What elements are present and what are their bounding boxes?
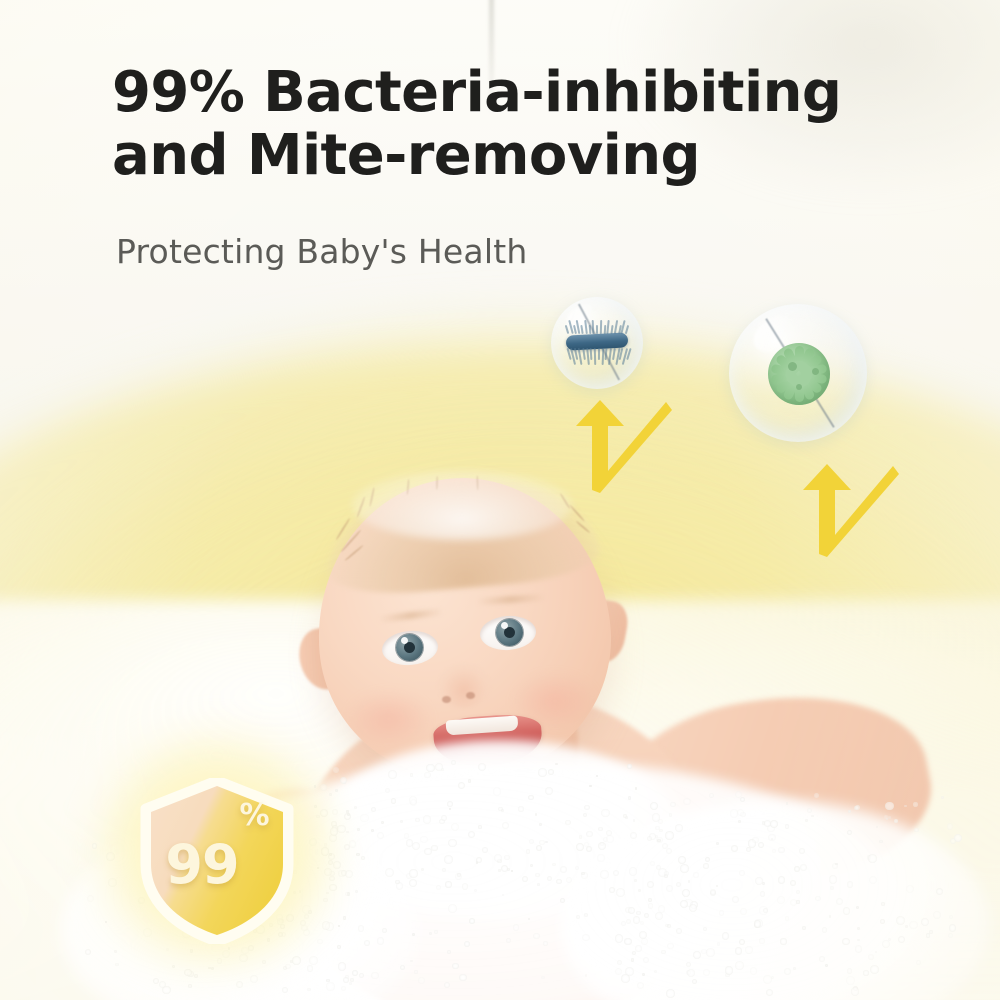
foam-bubble bbox=[420, 836, 428, 844]
foam-bubble bbox=[626, 919, 631, 924]
foam-bubble bbox=[898, 936, 905, 943]
foam-bubble bbox=[870, 965, 879, 974]
foam-bubble bbox=[498, 869, 501, 872]
foam-bubble bbox=[541, 976, 544, 979]
foam-bubble bbox=[600, 870, 609, 879]
foam-bubble bbox=[634, 879, 637, 882]
foam-bubble bbox=[600, 842, 604, 846]
foam-bubble bbox=[436, 885, 441, 890]
foam-bubble bbox=[631, 958, 634, 961]
foam-bubble bbox=[805, 819, 808, 822]
foam-bubble bbox=[535, 873, 540, 878]
foam-bubble bbox=[825, 964, 828, 967]
foam-bubble bbox=[452, 963, 458, 969]
foam-bubble bbox=[793, 967, 796, 970]
foam-bubble bbox=[637, 982, 644, 989]
foam-bubble bbox=[621, 974, 630, 983]
foam-bubble bbox=[847, 968, 853, 974]
foam-bubble bbox=[338, 962, 346, 970]
foam-bubble bbox=[670, 802, 675, 807]
virus-surface-dot bbox=[788, 362, 797, 371]
foam-bubble bbox=[811, 815, 813, 817]
foam-bubble bbox=[855, 945, 863, 953]
foam-bubble bbox=[326, 982, 334, 990]
status-badge: 99% bbox=[138, 778, 296, 944]
foam-bubble bbox=[575, 866, 579, 870]
foam-bubble bbox=[528, 918, 530, 920]
foam-bubble bbox=[624, 938, 631, 945]
foam-bubble bbox=[360, 814, 368, 822]
foam-bubble bbox=[545, 841, 547, 843]
foam-bubble bbox=[913, 802, 918, 807]
foam-bubble bbox=[689, 904, 697, 912]
foam-bubble bbox=[794, 866, 800, 872]
foam-bubble bbox=[719, 910, 724, 915]
baby-eye-glint-right bbox=[501, 622, 508, 629]
foam-bubble bbox=[659, 829, 662, 832]
foam-bubble bbox=[448, 904, 457, 913]
foam-bubble bbox=[282, 987, 288, 993]
foam-bubble bbox=[343, 916, 346, 919]
foam-bubble bbox=[536, 845, 542, 851]
baby-cheek-left bbox=[346, 690, 432, 748]
foam-bubble bbox=[114, 950, 117, 953]
foam-bubble bbox=[447, 801, 453, 807]
foam-bubble bbox=[644, 913, 649, 918]
foam-bubble bbox=[722, 932, 729, 939]
baby-nostril-left bbox=[442, 696, 451, 703]
arrow-up-icon bbox=[803, 464, 851, 554]
foam-bubble bbox=[735, 961, 744, 970]
foam-bubble bbox=[759, 938, 765, 944]
foam-bubble bbox=[941, 796, 943, 798]
foam-bubble bbox=[647, 881, 654, 888]
foam-bubble bbox=[115, 963, 119, 967]
foam-bubble bbox=[745, 946, 753, 954]
foam-bubble bbox=[354, 806, 357, 809]
bacterium-cilium bbox=[603, 325, 605, 334]
foam-bubble bbox=[409, 879, 417, 887]
foam-bubble bbox=[357, 828, 360, 831]
foam-bubble bbox=[628, 796, 631, 799]
foam-bubble bbox=[628, 907, 635, 914]
foam-bubble bbox=[404, 833, 410, 839]
foam-bubble bbox=[740, 797, 745, 802]
foam-bubble bbox=[307, 988, 310, 991]
foam-bubble bbox=[358, 925, 364, 931]
foam-bubble bbox=[188, 984, 192, 988]
foam-bubble bbox=[494, 854, 502, 862]
foam-bubble bbox=[947, 823, 953, 829]
foam-bubble bbox=[529, 839, 534, 844]
foam-bubble bbox=[706, 948, 715, 957]
foam-bubble bbox=[528, 795, 534, 801]
foam-bubble bbox=[584, 913, 588, 917]
foam-bubble bbox=[533, 933, 540, 940]
foam-bubble bbox=[445, 881, 451, 887]
bacterium-cilium bbox=[601, 348, 603, 365]
foam-bubble bbox=[755, 877, 763, 885]
foam-bubble bbox=[502, 894, 504, 896]
foam-bubble bbox=[675, 824, 683, 832]
foam-bubble bbox=[458, 782, 465, 789]
foam-bubble bbox=[954, 834, 962, 842]
foam-bubble bbox=[616, 888, 625, 897]
foam-bubble bbox=[778, 847, 784, 853]
foam-bubble bbox=[949, 924, 957, 932]
foam-bubble bbox=[538, 768, 547, 777]
headline-line-2: and Mite-removing bbox=[112, 125, 912, 188]
foam-bubble bbox=[857, 927, 860, 930]
foam-bubble bbox=[548, 769, 554, 775]
foam-bubble bbox=[464, 941, 470, 947]
foam-bubble bbox=[448, 839, 457, 848]
page-title: 99% Bacteria-inhibiting and Mite-removin… bbox=[112, 62, 912, 187]
foam-bubble bbox=[735, 947, 742, 954]
promo-poster: 99% Bacteria-inhibiting and Mite-removin… bbox=[0, 0, 1000, 1000]
bacterium-cilium bbox=[588, 325, 590, 334]
foam-bubble bbox=[493, 787, 501, 795]
foam-bubble bbox=[703, 969, 710, 976]
baby-nostril-right bbox=[466, 692, 475, 699]
repel-arrow-right bbox=[783, 462, 903, 557]
foam-bubble bbox=[780, 938, 786, 944]
foam-bubble bbox=[518, 806, 524, 812]
foam-bubble bbox=[350, 978, 354, 982]
foam-bubble bbox=[346, 810, 349, 813]
foam-bubble bbox=[778, 876, 785, 883]
foam-bubble bbox=[814, 793, 819, 798]
foam-bubble bbox=[444, 855, 453, 864]
foam-bubble bbox=[909, 921, 918, 930]
foam-bubble bbox=[666, 848, 672, 854]
foam-bubble bbox=[159, 981, 166, 988]
foam-bubble bbox=[435, 763, 443, 771]
foam-bubble bbox=[896, 916, 905, 925]
foam-bubble bbox=[851, 987, 859, 995]
foam-bubble bbox=[543, 941, 548, 946]
foam-bubble bbox=[429, 932, 432, 935]
foam-bubble bbox=[552, 863, 555, 866]
foam-bubble bbox=[406, 839, 413, 846]
foam-bubble bbox=[400, 965, 405, 970]
foam-bubble bbox=[537, 883, 540, 886]
foam-bubble bbox=[346, 831, 349, 834]
badge-number: 99 bbox=[165, 833, 238, 896]
headline-line-1: 99% Bacteria-inhibiting bbox=[112, 60, 841, 125]
foam-bubble bbox=[725, 966, 733, 974]
arrow-up-icon bbox=[576, 400, 624, 490]
foam-bubble bbox=[856, 906, 859, 909]
foam-bubble bbox=[667, 943, 673, 949]
foam-bubble bbox=[790, 899, 797, 906]
foam-bubble bbox=[333, 767, 339, 773]
foam-bubble bbox=[846, 976, 855, 985]
foam-bubble bbox=[842, 938, 849, 945]
foam-bubble bbox=[763, 975, 772, 984]
foam-bubble bbox=[680, 864, 689, 873]
foam-bubble bbox=[926, 933, 931, 938]
foam-bubble bbox=[948, 933, 953, 938]
foam-bubble bbox=[784, 968, 791, 975]
foam-bubble bbox=[596, 775, 598, 777]
foam-bubble bbox=[560, 898, 565, 903]
foam-bubble bbox=[692, 979, 697, 984]
foam-bubble bbox=[613, 870, 619, 876]
foam-bubble bbox=[585, 974, 588, 977]
foam-bubble bbox=[656, 865, 661, 870]
foam-bubble bbox=[669, 813, 672, 816]
foam-bubble bbox=[693, 872, 698, 877]
foam-bubble bbox=[676, 928, 682, 934]
foam-bubble bbox=[347, 813, 350, 816]
foam-bubble bbox=[655, 912, 663, 920]
foam-bubble bbox=[829, 915, 832, 918]
foam-bubble bbox=[703, 863, 709, 869]
virus-surface-dot bbox=[812, 368, 819, 375]
foam-bubble bbox=[335, 789, 338, 792]
baby-eye-glint-left bbox=[401, 637, 408, 644]
foam-bubble bbox=[635, 945, 642, 952]
foam-bubble bbox=[423, 815, 431, 823]
foam-bubble bbox=[418, 977, 425, 984]
foam-bubble bbox=[547, 876, 552, 881]
foam-bubble bbox=[737, 809, 744, 816]
foam-bubble bbox=[630, 832, 637, 839]
foam-bubble bbox=[633, 819, 635, 821]
foam-bubble bbox=[800, 864, 807, 871]
foam-bubble bbox=[847, 881, 854, 888]
virus-surface-dot bbox=[796, 384, 802, 390]
foam-bubble bbox=[526, 849, 530, 853]
foam-bubble bbox=[434, 930, 438, 934]
foam-bubble bbox=[731, 845, 738, 852]
foam-bubble bbox=[530, 864, 533, 867]
foam-bubble bbox=[556, 879, 562, 885]
foam-bubble bbox=[340, 777, 347, 784]
foam-bubble bbox=[933, 911, 941, 919]
foam-bubble bbox=[888, 816, 890, 818]
foam-bubble bbox=[847, 830, 852, 835]
repel-arrow-left bbox=[556, 398, 676, 493]
foam-bubble bbox=[409, 869, 417, 877]
foam-bubble bbox=[658, 819, 663, 824]
foam-bubble bbox=[888, 938, 891, 941]
foam-bubble bbox=[666, 989, 675, 998]
foam-bubble bbox=[868, 854, 877, 863]
subtitle: Protecting Baby's Health bbox=[116, 232, 527, 271]
foam-bubble bbox=[807, 808, 812, 813]
foam-bubble bbox=[426, 764, 435, 773]
foam-bubble bbox=[906, 885, 914, 893]
foam-on-head bbox=[352, 470, 572, 540]
foam-bubble bbox=[643, 957, 649, 963]
foam-bubble bbox=[904, 805, 907, 808]
foam-bubble bbox=[650, 861, 655, 866]
bacterium-cilium bbox=[600, 320, 602, 334]
bacterium-cilium bbox=[596, 325, 598, 334]
foam-bubble bbox=[740, 908, 747, 915]
foam-bubble bbox=[356, 853, 359, 856]
foam-bubble bbox=[504, 855, 510, 861]
foam-bubble bbox=[459, 974, 467, 982]
foam-bubble bbox=[629, 867, 637, 875]
badge-percent-sign: % bbox=[240, 798, 269, 833]
foam-bubble bbox=[478, 825, 482, 829]
foam-bubble bbox=[343, 977, 349, 983]
foam-bubble bbox=[758, 842, 764, 848]
foam-bubble bbox=[835, 863, 838, 866]
foam-bubble bbox=[710, 889, 716, 895]
foam-bubble bbox=[627, 764, 632, 769]
foam-bubble bbox=[377, 937, 385, 945]
foam-bubble bbox=[414, 970, 417, 973]
foam-bubble bbox=[785, 916, 790, 921]
foam-bubble bbox=[678, 856, 686, 864]
foam-bubble bbox=[752, 837, 758, 843]
foam-bubble bbox=[539, 840, 544, 845]
foam-bubble bbox=[863, 970, 868, 975]
foam-bubble bbox=[754, 920, 762, 928]
foam-bubble bbox=[307, 965, 313, 971]
foam-bubble bbox=[506, 938, 511, 943]
foam-bubble bbox=[688, 880, 690, 882]
foam-bubble bbox=[410, 960, 412, 962]
foam-bubble bbox=[661, 950, 666, 955]
foam-bubble bbox=[584, 805, 589, 810]
foam-bubble bbox=[786, 802, 788, 804]
foam-bubble bbox=[633, 916, 640, 923]
foam-bubble bbox=[576, 915, 580, 919]
bacterium-cilium bbox=[598, 348, 600, 360]
foam-bubble bbox=[686, 962, 691, 967]
foam-bubble bbox=[597, 854, 604, 861]
foam-bubble bbox=[478, 763, 486, 771]
foam-bubble bbox=[667, 924, 671, 928]
foam-bubble bbox=[665, 831, 674, 840]
foam-bubble bbox=[796, 900, 799, 903]
foam-bubble bbox=[790, 880, 796, 886]
foam-bubble bbox=[309, 956, 318, 965]
foam-bubble bbox=[936, 888, 943, 895]
foam-bubble bbox=[388, 770, 397, 779]
foam-bubble bbox=[349, 982, 352, 985]
foam-bubble bbox=[636, 911, 640, 915]
foam-bubble bbox=[292, 956, 301, 965]
foam-bubble bbox=[921, 918, 929, 926]
foam-bubble bbox=[880, 919, 885, 924]
foam-bubble bbox=[317, 939, 322, 944]
foam-bubble bbox=[560, 866, 567, 873]
